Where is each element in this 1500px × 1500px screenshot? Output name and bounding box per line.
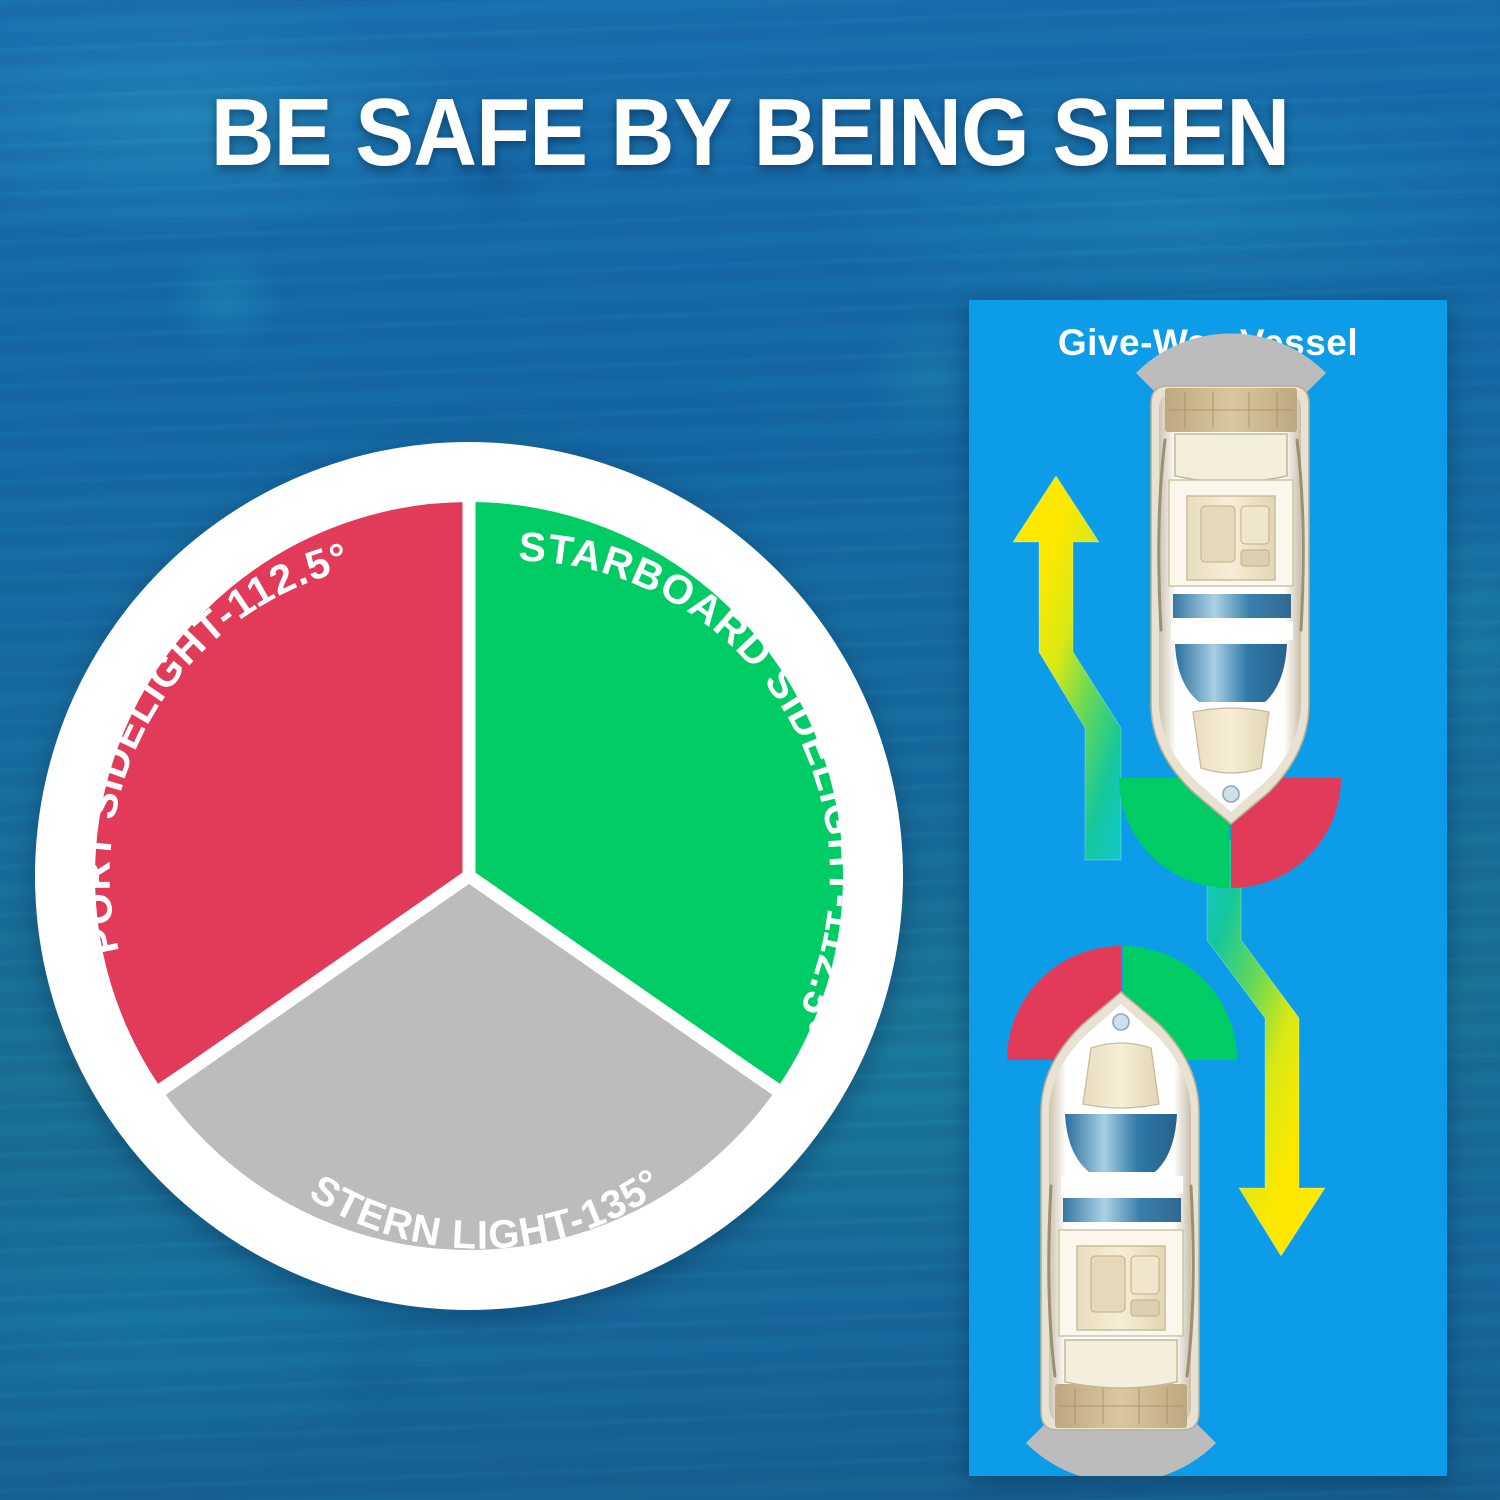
lower-vessel-boat xyxy=(1041,992,1199,1430)
vessel-diagram-svg xyxy=(969,300,1447,1476)
upper-vessel-boat xyxy=(1151,386,1309,824)
give-way-vessel-panel: Give-Way Vessel xyxy=(969,300,1447,1476)
page-title: BE SAFE BY BEING SEEN xyxy=(60,78,1440,188)
navigation-light-sectors-chart: PORT SIDELIGHT-112.5° STARBOARD SIDELIGH… xyxy=(35,442,903,1310)
lower-vessel-group xyxy=(1007,946,1237,1476)
left-track-arrow xyxy=(1013,476,1121,860)
pie-svg: PORT SIDELIGHT-112.5° STARBOARD SIDELIGH… xyxy=(35,442,903,1310)
upper-vessel-group xyxy=(1119,334,1341,888)
